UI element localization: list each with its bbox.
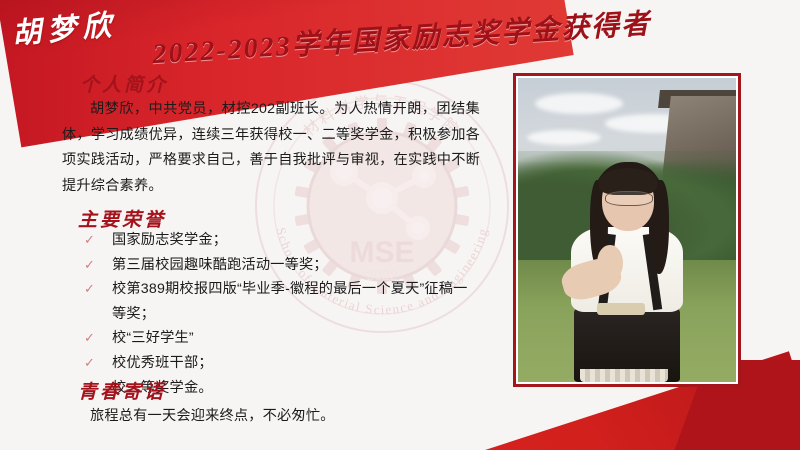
honor-list-item-label: 校优秀班干部； bbox=[112, 355, 213, 371]
message-paragraph: 旅程总有一天会迎来终点，不必匆忙。 bbox=[62, 404, 492, 430]
student-photo bbox=[518, 78, 736, 382]
honor-list-item-label: 校“三好学生” bbox=[112, 330, 194, 346]
honor-list-item: ✓国家励志奖学金； bbox=[84, 228, 479, 253]
honor-list-item-label: 国家励志奖学金； bbox=[112, 232, 227, 248]
section-heading-message: 青春寄语 bbox=[78, 377, 166, 404]
check-icon: ✓ bbox=[84, 351, 95, 376]
photo-person-hand bbox=[597, 245, 622, 281]
profile-paragraph: 胡梦欣，中共党员，材控202副班长。为人热情开朗，团结集体，学习成绩优异，连续三… bbox=[62, 97, 480, 199]
photo-person bbox=[553, 157, 701, 382]
honor-list-item: ✓第三届校园趣味酷跑活动一等奖； bbox=[84, 253, 479, 278]
glasses-icon bbox=[605, 191, 653, 206]
scholarship-slide: 材料科学与工程学院 School of Material Science and… bbox=[0, 0, 800, 450]
photo-person-belt bbox=[597, 303, 644, 314]
check-icon: ✓ bbox=[84, 253, 95, 278]
honor-list-item-label: 第三届校园趣味酷跑活动一等奖； bbox=[112, 257, 328, 273]
honor-list-item: ✓校“三好学生” bbox=[84, 326, 479, 351]
honor-list-item: ✓校第389期校报四版“毕业季-徽程的最后一个夏天”征稿一等奖； bbox=[84, 277, 479, 326]
honor-list-item-label: 校第389期校报四版“毕业季-徽程的最后一个夏天”征稿一等奖； bbox=[112, 281, 468, 322]
content-column: 个人简介 胡梦欣，中共党员，材控202副班长。为人热情开朗，团结集体，学习成绩优… bbox=[0, 0, 520, 450]
check-icon: ✓ bbox=[84, 228, 95, 253]
honor-list-item: ✓校优秀班干部； bbox=[84, 351, 479, 376]
check-icon: ✓ bbox=[84, 326, 95, 351]
photo-person-skirt-lace bbox=[580, 369, 669, 382]
photo-cloud bbox=[527, 130, 601, 145]
check-icon: ✓ bbox=[84, 277, 95, 302]
honors-list: ✓国家励志奖学金；✓第三届校园趣味酷跑活动一等奖；✓校第389期校报四版“毕业季… bbox=[84, 228, 479, 400]
student-photo-frame bbox=[513, 73, 741, 387]
section-heading-profile: 个人简介 bbox=[80, 70, 168, 97]
